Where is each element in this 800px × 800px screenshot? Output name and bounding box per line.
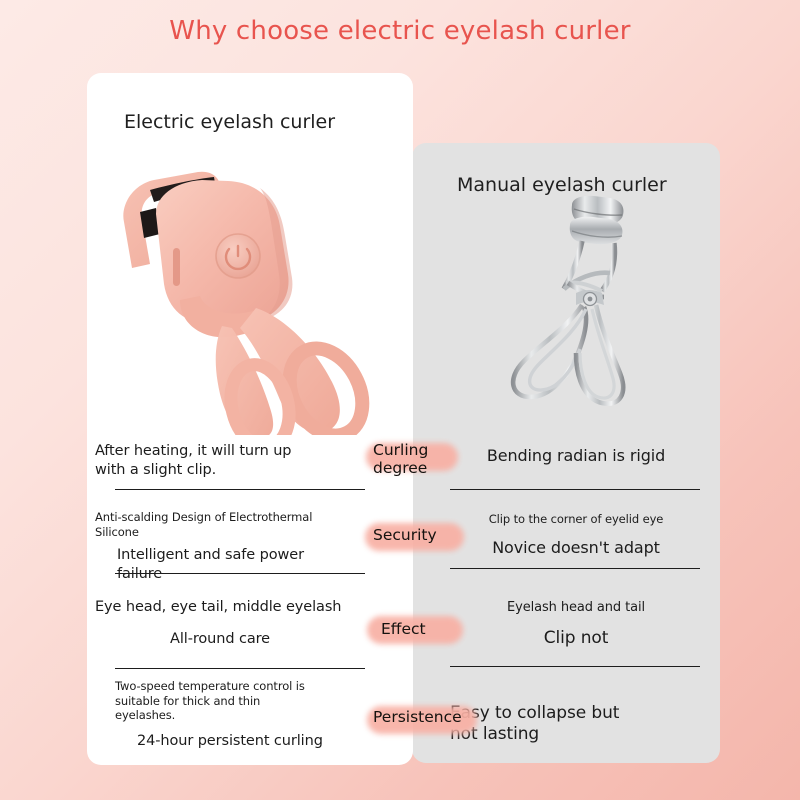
row2-left-divider (115, 573, 365, 574)
row1-left-text: After heating, it will turn up with a sl… (95, 442, 375, 479)
row4-label-pill: Persistence (373, 708, 479, 726)
row1-right-divider (450, 489, 700, 490)
row4-right-text: Easy to collapse but not lasting (450, 703, 722, 746)
row3-left-divider (115, 668, 365, 669)
row2-right-divider (450, 568, 700, 569)
row4-left-text: Two-speed temperature control is suitabl… (95, 679, 375, 751)
comparison-table: After heating, it will turn up with a sl… (0, 0, 800, 800)
row3-left-text: Eye head, eye tail, middle eyelash All-r… (95, 598, 375, 648)
row2-right-text: Clip to the corner of eyelid eye Novice … (440, 512, 712, 558)
row1-right-text: Bending radian is rigid (440, 446, 712, 466)
row3-right-text: Eyelash head and tail Clip not (440, 600, 712, 649)
infographic-canvas: Why choose electric eyelash curler Elect… (0, 0, 800, 800)
row1-left-divider (115, 489, 365, 490)
row3-label-pill: Effect (381, 620, 453, 638)
row2-label-pill: Security (373, 526, 463, 544)
row3-right-divider (450, 666, 700, 667)
row1-label-pill: Curling degree (373, 441, 461, 478)
